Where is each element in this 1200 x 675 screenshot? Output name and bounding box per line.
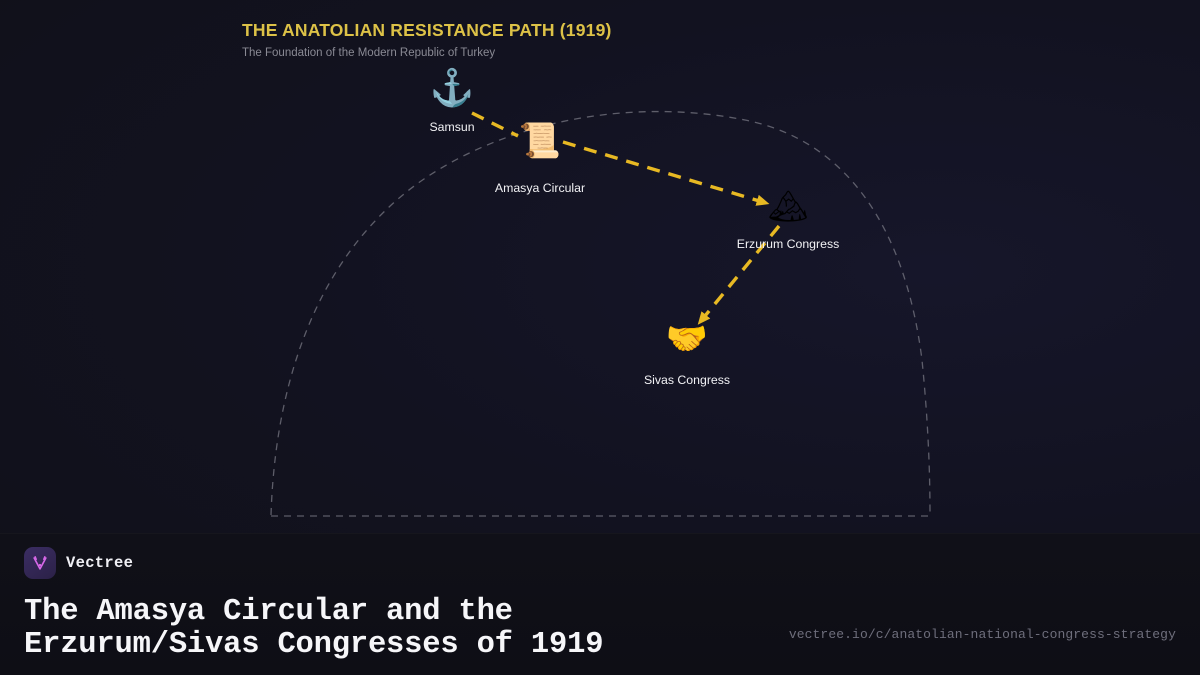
route-segment-samsun-amasya: [472, 113, 518, 136]
brand-name: Vectree: [66, 554, 133, 572]
footer-headline: The Amasya Circular and the Erzurum/Siva…: [24, 596, 754, 662]
vectree-logo-icon: [24, 547, 56, 579]
route-segment-amasya-erzurum: [563, 142, 766, 203]
map-node-label-amasya: Amasya Circular: [495, 181, 585, 195]
slide-root: THE ANATOLIAN RESISTANCE PATH (1919) The…: [0, 0, 1200, 675]
scroll-icon: 📜: [519, 124, 561, 158]
map-canvas: [0, 0, 1200, 535]
brand-row[interactable]: Vectree: [24, 547, 133, 579]
footer-url[interactable]: vectree.io/c/anatolian-national-congress…: [789, 627, 1176, 642]
footer-bar: Vectree The Amasya Circular and the Erzu…: [0, 533, 1200, 675]
page-subtitle: The Foundation of the Modern Republic of…: [242, 47, 612, 59]
mountain-icon: 🏔: [768, 190, 809, 222]
map-node-label-sivas: Sivas Congress: [644, 373, 730, 387]
map-title-block: THE ANATOLIAN RESISTANCE PATH (1919) The…: [242, 20, 612, 59]
anchor-icon: ⚓: [430, 70, 475, 106]
map-stage: THE ANATOLIAN RESISTANCE PATH (1919) The…: [0, 0, 1200, 535]
country-outline: [271, 112, 930, 516]
map-node-label-samsun: Samsun: [429, 120, 474, 134]
handshake-icon: 🤝: [666, 322, 708, 356]
map-node-label-erzurum: Erzurum Congress: [737, 237, 840, 251]
page-title: THE ANATOLIAN RESISTANCE PATH (1919): [242, 20, 612, 41]
